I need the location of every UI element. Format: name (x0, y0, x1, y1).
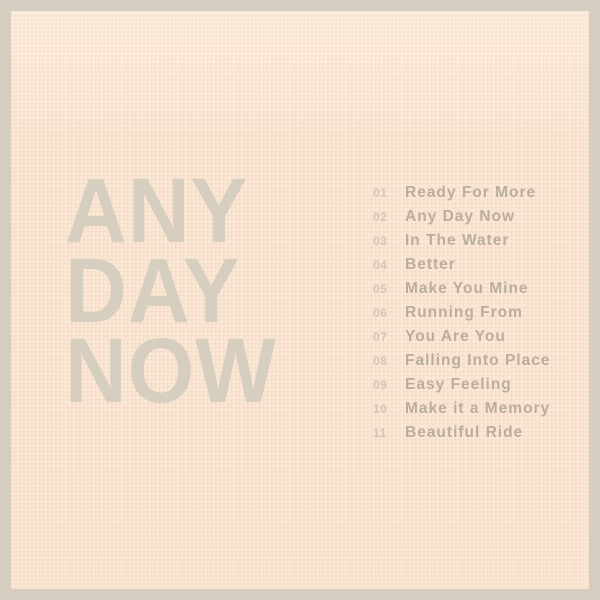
track-number: 04 (373, 253, 405, 277)
track-row: 08 Falling Into Place (373, 349, 550, 373)
track-number: 08 (373, 349, 405, 373)
album-title: ANY DAY NOW (65, 171, 293, 411)
track-row: 07 You Are You (373, 325, 550, 349)
track-title: Better (405, 253, 456, 277)
track-number: 10 (373, 397, 405, 421)
track-row: 05 Make You Mine (373, 277, 550, 301)
tracklist: 01 Ready For More 02 Any Day Now 03 In T… (373, 181, 550, 445)
track-number: 06 (373, 301, 405, 325)
track-title: You Are You (405, 325, 506, 349)
track-row: 09 Easy Feeling (373, 373, 550, 397)
track-row: 10 Make it a Memory (373, 397, 550, 421)
track-row: 01 Ready For More (373, 181, 550, 205)
track-number: 01 (373, 181, 405, 205)
album-cover: ANY DAY NOW 01 Ready For More 02 Any Day… (0, 0, 600, 600)
track-title: In The Water (405, 229, 509, 253)
track-row: 03 In The Water (373, 229, 550, 253)
track-title: Ready For More (405, 181, 536, 205)
track-row: 06 Running From (373, 301, 550, 325)
track-number: 09 (373, 373, 405, 397)
track-title: Running From (405, 301, 523, 325)
track-number: 11 (373, 421, 405, 445)
track-number: 03 (373, 229, 405, 253)
track-number: 02 (373, 205, 405, 229)
track-title: Easy Feeling (405, 373, 512, 397)
track-title: Make it a Memory (405, 397, 550, 421)
track-title: Make You Mine (405, 277, 529, 301)
album-title-line-3: NOW (65, 331, 277, 411)
track-number: 07 (373, 325, 405, 349)
album-title-line-1: ANY (65, 171, 277, 251)
track-row: 02 Any Day Now (373, 205, 550, 229)
album-artwork-surface: ANY DAY NOW 01 Ready For More 02 Any Day… (11, 11, 589, 589)
track-row: 04 Better (373, 253, 550, 277)
track-row: 11 Beautiful Ride (373, 421, 550, 445)
album-title-line-2: DAY (65, 251, 277, 331)
track-number: 05 (373, 277, 405, 301)
track-title: Beautiful Ride (405, 421, 523, 445)
track-title: Any Day Now (405, 205, 515, 229)
track-title: Falling Into Place (405, 349, 550, 373)
